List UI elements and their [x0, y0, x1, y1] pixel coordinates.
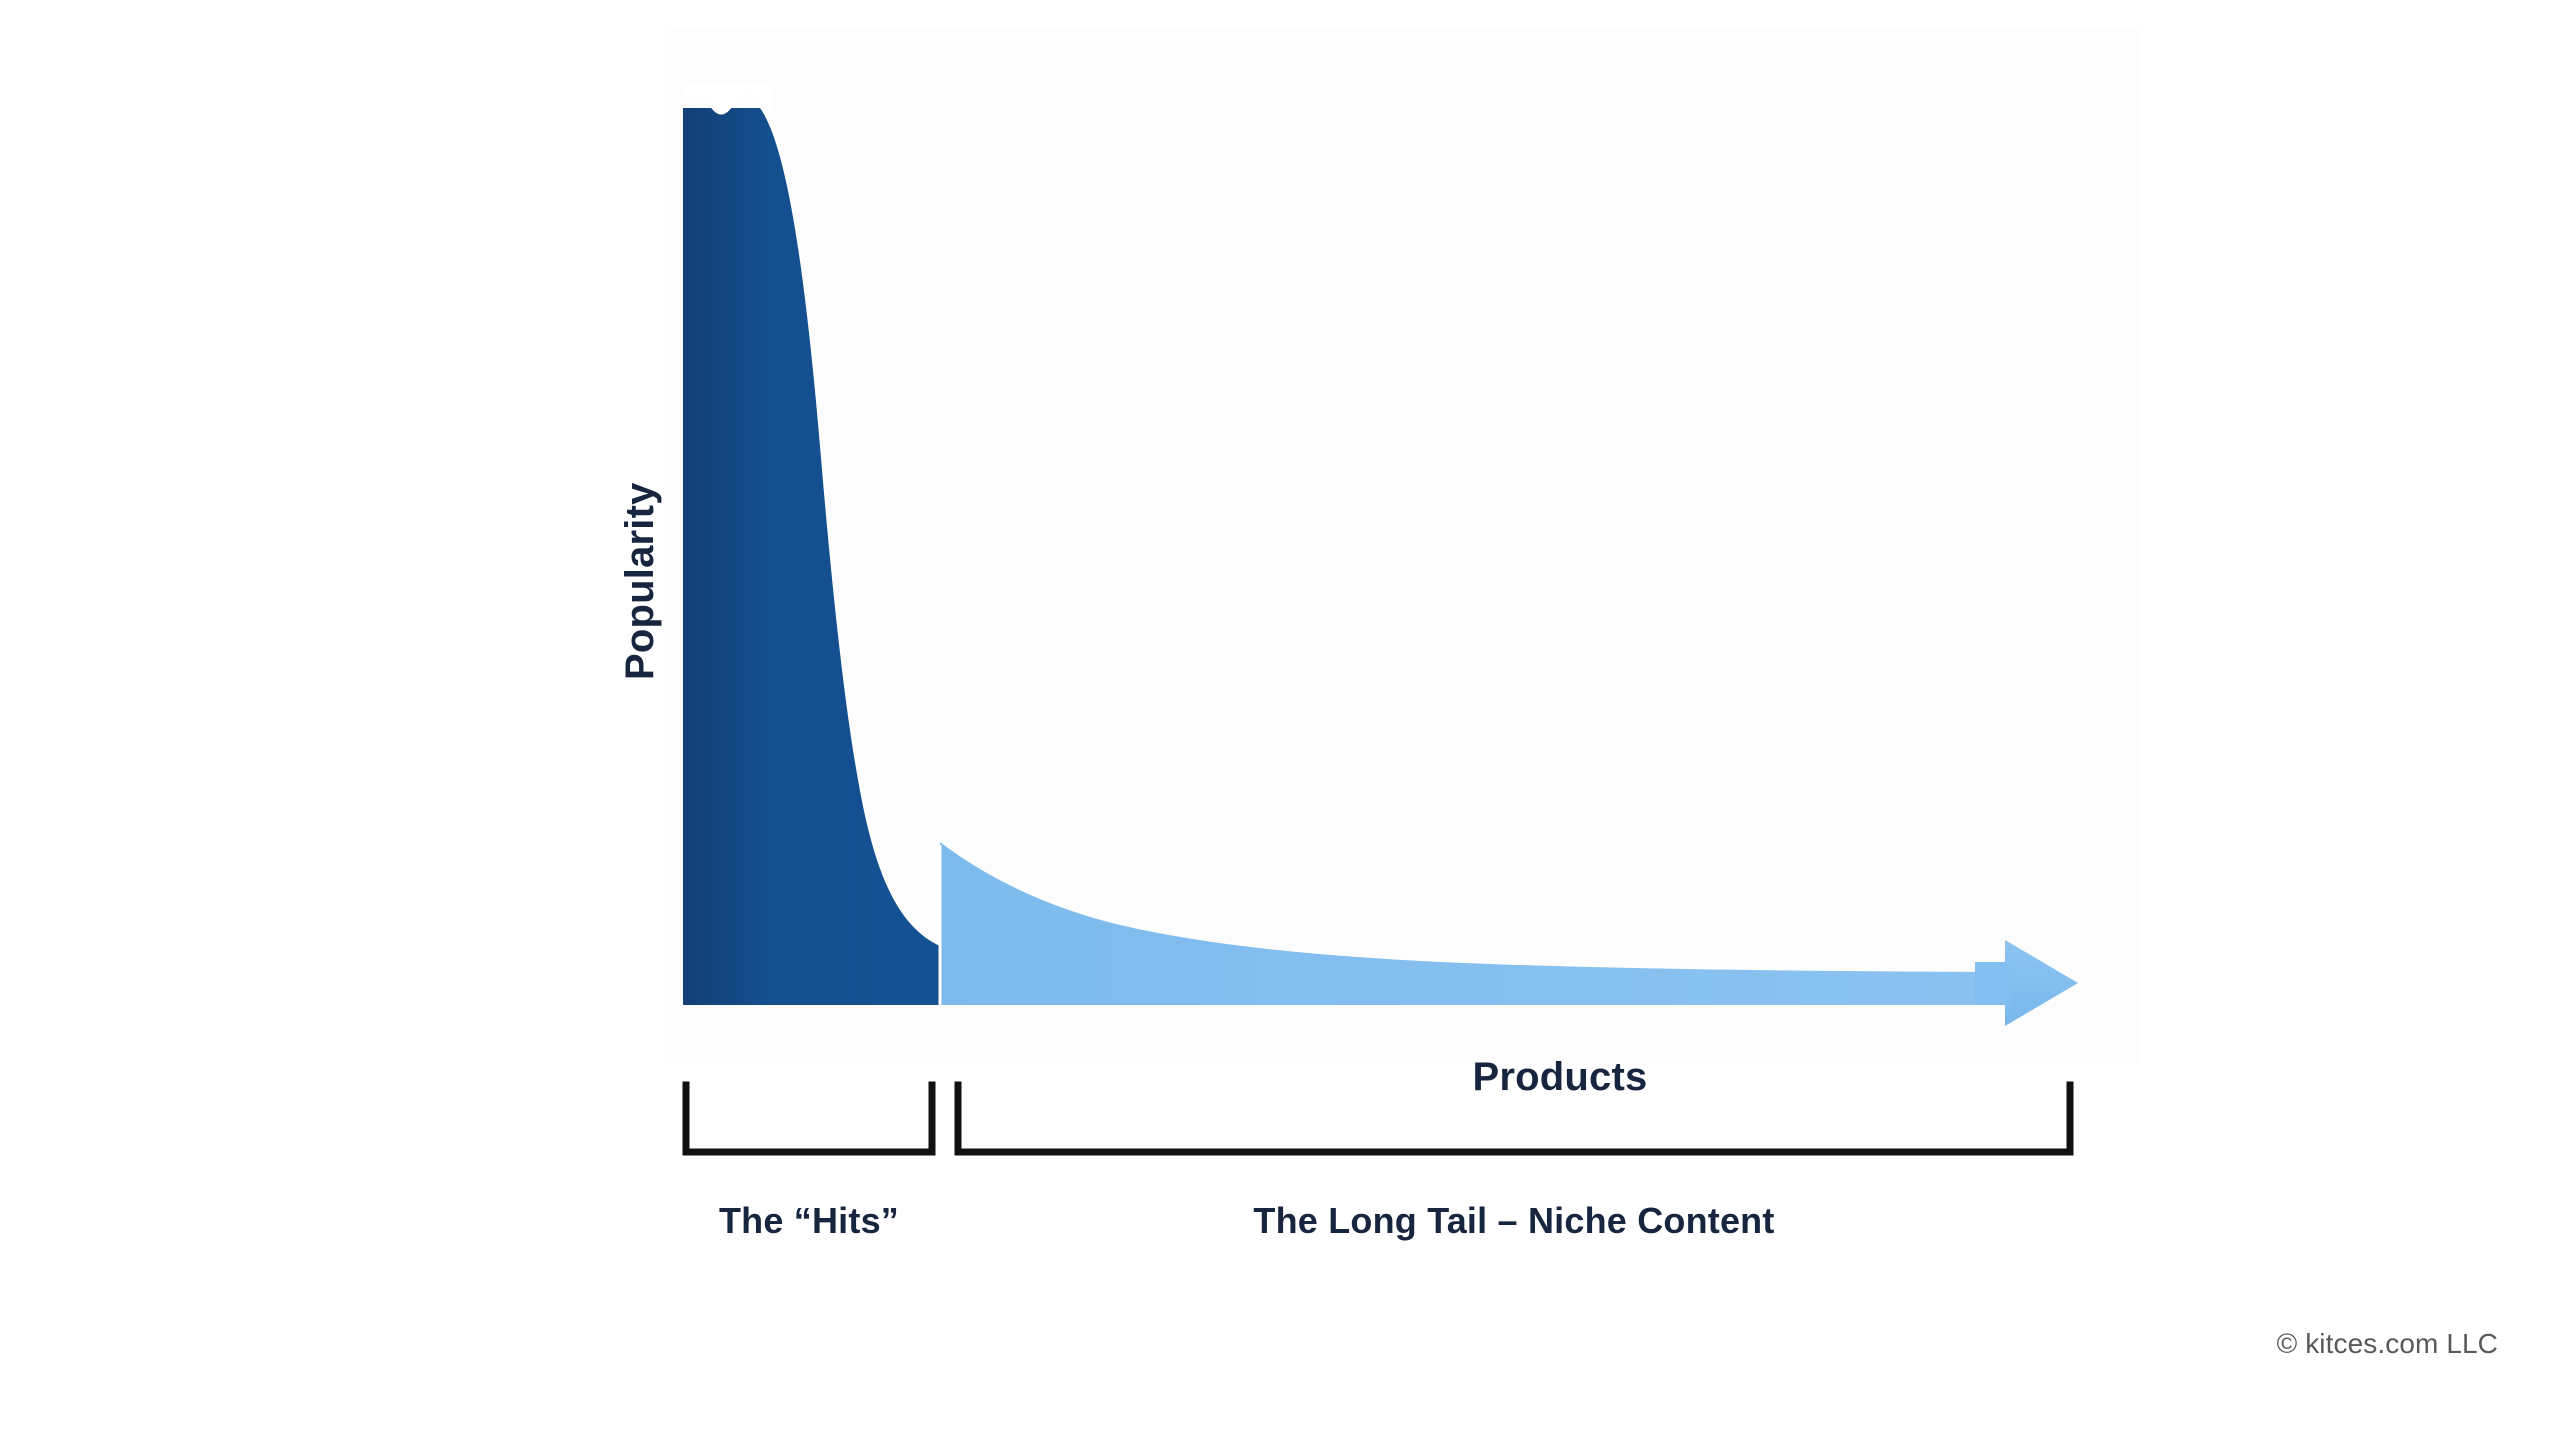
hits-area — [683, 84, 940, 1005]
y-axis-title: Popularity — [618, 482, 663, 680]
long-tail-area — [940, 842, 2010, 1005]
chart-canvas: Popularity Products The “Hits” The Long … — [0, 0, 2560, 1440]
copyright-credit: © kitces.com LLC — [2277, 1328, 2498, 1360]
segment-label-hits: The “Hits” — [683, 1200, 935, 1242]
x-axis-title: Products — [1120, 1055, 2000, 1100]
bracket-hits — [686, 1085, 932, 1152]
tail-arrowhead-icon — [1975, 940, 2078, 1026]
segment-label-long-tail: The Long Tail – Niche Content — [955, 1200, 2073, 1242]
